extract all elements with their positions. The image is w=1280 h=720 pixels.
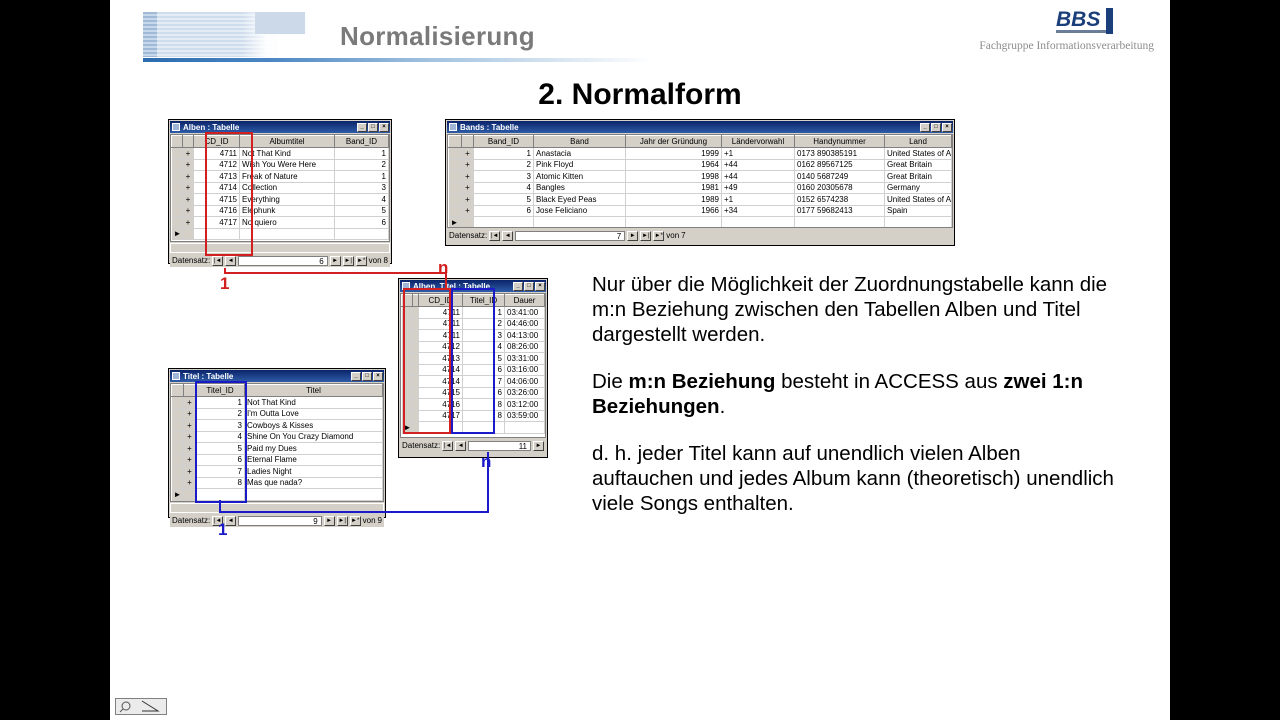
table-row[interactable]: + 4713 Freak of Nature 1 [172, 171, 389, 183]
cell-titel-id[interactable]: 4 [196, 431, 245, 443]
col-header-jahr[interactable]: Jahr der Gründung [626, 136, 722, 148]
row-expander[interactable]: + [462, 159, 474, 171]
nav-prev-button[interactable]: ◄ [225, 256, 236, 266]
nav-last-button[interactable]: ►| [640, 231, 651, 241]
cell-vorwahl[interactable] [722, 217, 795, 229]
table-row[interactable]: + 3 Cowboys & Kisses [172, 420, 383, 432]
cell-titel-id[interactable]: 2 [463, 318, 505, 330]
row-selector[interactable] [402, 410, 413, 422]
cell-albumtitel[interactable]: Everything [240, 194, 335, 206]
table-row[interactable]: + 4 Shine On You Crazy Diamond [172, 431, 383, 443]
row-selector[interactable] [402, 330, 413, 342]
cell-cd-id[interactable]: 4712 [419, 341, 463, 353]
cell-cd-id[interactable]: 4715 [419, 387, 463, 399]
table-row[interactable]: 4713 5 03:31:00 [402, 353, 545, 365]
cell-band-id[interactable]: 2 [474, 159, 534, 171]
cell-titel-id[interactable]: 1 [463, 307, 505, 319]
row-expander[interactable]: + [183, 194, 194, 206]
cell-cd-id[interactable]: 4715 [194, 194, 240, 206]
row-selector[interactable] [402, 399, 413, 411]
cell-cd-id[interactable]: 4712 [194, 159, 240, 171]
header-title: Normalisierung [340, 21, 535, 52]
row-expander[interactable]: + [462, 194, 474, 206]
nav-last-button[interactable]: ►| [343, 256, 354, 266]
row-selector[interactable] [172, 148, 183, 160]
row-expander[interactable]: + [183, 205, 194, 217]
cell-cd-id[interactable]: 4711 [419, 307, 463, 319]
cell-titel-id[interactable]: 8 [463, 410, 505, 422]
cell-titel[interactable]: Cowboys & Kisses [245, 420, 383, 432]
table-row[interactable]: 4714 6 03:16:00 [402, 364, 545, 376]
table-icon [402, 282, 410, 290]
table-icon [172, 123, 180, 131]
cell-cd-id[interactable]: 4717 [194, 217, 240, 229]
cell-titel[interactable]: Mas que nada? [245, 477, 383, 489]
cell-band[interactable]: Pink Floyd [534, 159, 626, 171]
row-expander[interactable]: + [462, 148, 474, 160]
cell-dauer[interactable] [505, 422, 545, 434]
cell-titel-id[interactable]: 5 [196, 443, 245, 455]
nav-current-record[interactable]: 6 [238, 256, 327, 266]
maximize-button[interactable]: □ [931, 123, 941, 132]
cell-cd-id[interactable]: 4716 [419, 399, 463, 411]
table-row[interactable]: 4714 7 04:06:00 [402, 376, 545, 388]
col-header-dauer[interactable]: Dauer [505, 295, 545, 307]
row-selector[interactable] [172, 477, 184, 489]
paragraph-3: d. h. jeder Titel kann auf unendlich vie… [592, 441, 1122, 516]
nav-current-record[interactable]: 7 [515, 231, 625, 241]
row-expander[interactable]: + [184, 466, 196, 478]
table-row[interactable]: + 6 Eternal Flame [172, 454, 383, 466]
maximize-button[interactable]: □ [362, 372, 372, 381]
minimize-button[interactable]: _ [513, 282, 523, 291]
row-expander [462, 217, 474, 229]
cell-land[interactable] [885, 217, 952, 229]
cell-titel[interactable]: Ladies Night [245, 466, 383, 478]
record-navigator-titel[interactable]: Datensatz: |◄ ◄ 9 ► ►| ►* von 9 [170, 514, 384, 527]
cell-titel-id[interactable]: 2 [196, 408, 245, 420]
col-header-band-id[interactable]: Band_ID [335, 136, 389, 148]
cell-cd-id[interactable]: 4716 [194, 205, 240, 217]
minimize-button[interactable]: _ [351, 372, 361, 381]
row-selector[interactable] [172, 397, 184, 409]
col-header-titel[interactable]: Titel [245, 385, 383, 397]
row-selector[interactable]: ► [402, 422, 413, 434]
titlebar-bands[interactable]: Bands : Tabelle _ □ × [447, 121, 953, 133]
cell-titel-id[interactable]: 6 [463, 364, 505, 376]
cell-cd-id[interactable] [419, 422, 463, 434]
table-row[interactable]: + 4716 Elephunk 5 [172, 205, 389, 217]
row-expander[interactable]: + [184, 420, 196, 432]
cell-band[interactable]: Black Eyed Peas [534, 194, 626, 206]
cell-handynummer[interactable]: 0140 5687249 [795, 171, 885, 183]
col-header-band-id[interactable]: Band_ID [474, 136, 534, 148]
titlebar-alben[interactable]: Alben : Tabelle _ □ × [170, 121, 390, 133]
row-selector[interactable] [172, 182, 183, 194]
nav-prev-button[interactable]: ◄ [502, 231, 513, 241]
table-row[interactable]: 4717 8 03:59:00 [402, 410, 545, 422]
cell-titel[interactable]: Not That Kind [245, 397, 383, 409]
cell-cd-id[interactable]: 4713 [419, 353, 463, 365]
table-row[interactable]: + 4717 No quiero 6 [172, 217, 389, 229]
cardinality-titel-one: 1 [218, 520, 227, 540]
table-row[interactable]: + 5 Black Eyed Peas 1989 +1 0152 6574238… [449, 194, 952, 206]
table-row-new[interactable]: ► [172, 228, 389, 240]
row-expander[interactable]: + [462, 182, 474, 194]
record-navigator-bands[interactable]: Datensatz: |◄ ◄ 7 ► ►| ►* von 7 [447, 229, 953, 242]
cell-band-id[interactable]: 3 [335, 182, 389, 194]
nav-of-label: von [363, 516, 376, 525]
cell-jahr[interactable]: 1964 [626, 159, 722, 171]
window-titel[interactable]: Titel : Tabelle _ □ × Titel_ID Titel + [168, 368, 386, 518]
cell-titel[interactable]: I'm Outta Love [245, 408, 383, 420]
horizontal-scrollbar[interactable] [170, 243, 390, 253]
row-selector[interactable] [172, 443, 184, 455]
cell-titel-id[interactable]: 7 [463, 376, 505, 388]
cell-albumtitel[interactable]: Not That Kind [240, 148, 335, 160]
row-expander[interactable]: + [183, 159, 194, 171]
col-header-cd-id[interactable]: CD_ID [419, 295, 463, 307]
nav-of-label: von [369, 256, 382, 265]
cell-albumtitel[interactable]: Wish You Were Here [240, 159, 335, 171]
cell-titel[interactable]: Paid my Dues [245, 443, 383, 455]
col-select-all[interactable] [449, 136, 462, 148]
row-selector[interactable] [449, 159, 462, 171]
table-row[interactable]: 4712 4 08:26:00 [402, 341, 545, 353]
cell-titel-id[interactable]: 6 [463, 387, 505, 399]
cell-albumtitel[interactable]: Elephunk [240, 205, 335, 217]
table-row[interactable]: + 2 I'm Outta Love [172, 408, 383, 420]
window-alben[interactable]: Alben : Tabelle _ □ × CD_ID Albumtitel B… [168, 119, 392, 264]
cell-band[interactable]: Jose Feliciano [534, 205, 626, 217]
cell-dauer[interactable]: 04:06:00 [505, 376, 545, 388]
record-navigator-alben[interactable]: Datensatz: |◄ ◄ 6 ► ►| ►* von 8 [170, 254, 390, 267]
cell-titel-id[interactable]: 1 [196, 397, 245, 409]
cell-cd-id[interactable]: 4711 [419, 330, 463, 342]
minimize-button[interactable]: _ [357, 123, 367, 132]
maximize-button[interactable]: □ [368, 123, 378, 132]
row-selector[interactable] [402, 376, 413, 388]
cell-vorwahl[interactable]: +1 [722, 194, 795, 206]
cell-band-id[interactable]: 4 [335, 194, 389, 206]
row-selector[interactable] [172, 159, 183, 171]
col-select-all[interactable] [172, 385, 184, 397]
cell-band[interactable] [534, 217, 626, 229]
col-header-albumtitel[interactable]: Albumtitel [240, 136, 335, 148]
cell-jahr[interactable]: 1981 [626, 182, 722, 194]
window-title-bands: Bands : Tabelle [460, 123, 920, 132]
cell-handynummer[interactable]: 0177 59682413 [795, 205, 885, 217]
nav-next-button[interactable]: ► [627, 231, 638, 241]
cell-cd-id[interactable]: 4717 [419, 410, 463, 422]
cell-dauer[interactable]: 04:46:00 [505, 318, 545, 330]
row-selector[interactable] [402, 341, 413, 353]
row-selector[interactable] [449, 148, 462, 160]
cell-handynummer[interactable] [795, 217, 885, 229]
maximize-button[interactable]: □ [524, 282, 534, 291]
nav-next-button[interactable]: ► [533, 441, 544, 451]
cell-vorwahl[interactable]: +44 [722, 159, 795, 171]
cell-band-id[interactable] [474, 217, 534, 229]
table-row-new[interactable]: ► [449, 217, 952, 229]
row-selector[interactable] [172, 408, 184, 420]
cell-handynummer[interactable]: 0152 6574238 [795, 194, 885, 206]
table-row[interactable]: + 2 Pink Floyd 1964 +44 0162 89567125 Gr… [449, 159, 952, 171]
row-selector[interactable] [172, 194, 183, 206]
cell-land[interactable]: Great Britain [885, 159, 952, 171]
minimize-button[interactable]: _ [920, 123, 930, 132]
row-expander[interactable]: + [184, 454, 196, 466]
cell-dauer[interactable]: 04:13:00 [505, 330, 545, 342]
row-selector[interactable] [172, 454, 184, 466]
cell-titel-id[interactable]: 6 [196, 454, 245, 466]
cell-cd-id[interactable]: 4714 [194, 182, 240, 194]
window-bands[interactable]: Bands : Tabelle _ □ × Band_ID Band Jahr … [445, 119, 955, 246]
row-selector[interactable] [449, 194, 462, 206]
cell-handynummer[interactable]: 0162 89567125 [795, 159, 885, 171]
cell-jahr[interactable]: 1966 [626, 205, 722, 217]
cell-band-id[interactable]: 1 [474, 148, 534, 160]
cell-cd-id[interactable] [194, 228, 240, 240]
nav-label: Datensatz: [449, 231, 487, 240]
cell-jahr[interactable] [626, 217, 722, 229]
datasheet-alben[interactable]: CD_ID Albumtitel Band_ID + 4711 Not That… [170, 134, 390, 242]
col-header-handynummer[interactable]: Handynummer [795, 136, 885, 148]
cell-band-id[interactable]: 5 [474, 194, 534, 206]
row-expander[interactable]: + [183, 217, 194, 229]
cell-band-id[interactable]: 6 [474, 205, 534, 217]
cell-band-id[interactable]: 3 [474, 171, 534, 183]
cell-land[interactable]: Great Britain [885, 171, 952, 183]
cell-cd-id[interactable]: 4711 [419, 318, 463, 330]
table-row[interactable]: 4716 8 03:12:00 [402, 399, 545, 411]
table-row-new[interactable]: ► [402, 422, 545, 434]
table-row[interactable]: + 4714 Collection 3 [172, 182, 389, 194]
cell-titel-id[interactable]: 3 [196, 420, 245, 432]
cell-albumtitel[interactable] [240, 228, 335, 240]
cell-land[interactable]: Germany [885, 182, 952, 194]
cell-titel-id[interactable]: 7 [196, 466, 245, 478]
cell-dauer[interactable]: 03:31:00 [505, 353, 545, 365]
cell-band-id[interactable]: 6 [335, 217, 389, 229]
table-row[interactable]: 4715 6 03:26:00 [402, 387, 545, 399]
row-selector[interactable] [172, 420, 184, 432]
close-button[interactable]: × [535, 282, 545, 291]
nav-current-record[interactable]: 11 [468, 441, 531, 451]
datasheet-bands[interactable]: Band_ID Band Jahr der Gründung Ländervor… [447, 134, 953, 228]
cell-band-id[interactable]: 1 [335, 171, 389, 183]
datasheet-alben-titel[interactable]: CD_ID Titel_ID Dauer 4711 1 03:41:00 471… [400, 293, 546, 438]
row-selector[interactable] [172, 466, 184, 478]
row-selector[interactable]: ► [449, 217, 462, 229]
row-expander[interactable]: + [462, 171, 474, 183]
cell-band-id[interactable]: 4 [474, 182, 534, 194]
table-row[interactable]: + 7 Ladies Night [172, 466, 383, 478]
cell-vorwahl[interactable]: +1 [722, 148, 795, 160]
close-button[interactable]: × [373, 372, 383, 381]
cell-band-id[interactable]: 2 [335, 159, 389, 171]
table-row-new[interactable]: ► [172, 489, 383, 501]
titlebar-titel[interactable]: Titel : Tabelle _ □ × [170, 370, 384, 382]
cell-dauer[interactable]: 08:26:00 [505, 341, 545, 353]
window-alben-titel[interactable]: Alben_Titel : Tabelle _ □ × CD_ID Titel_… [398, 278, 548, 458]
table-row[interactable]: + 4715 Everything 4 [172, 194, 389, 206]
cell-cd-id[interactable]: 4711 [194, 148, 240, 160]
cell-albumtitel[interactable]: Collection [240, 182, 335, 194]
paragraph-1: Nur über die Möglichkeit der Zuordnungst… [592, 272, 1122, 347]
row-selector[interactable] [449, 205, 462, 217]
row-expander[interactable]: + [184, 397, 196, 409]
cell-land[interactable]: United States of America [885, 194, 952, 206]
bbs-logo-icon: BBS [1056, 6, 1118, 40]
table-row[interactable]: + 6 Jose Feliciano 1966 +34 0177 5968241… [449, 205, 952, 217]
table-row[interactable]: 4711 1 03:41:00 [402, 307, 545, 319]
col-header-land[interactable]: Land [885, 136, 952, 148]
col-expand [183, 136, 194, 148]
row-expander[interactable]: + [183, 171, 194, 183]
table-row[interactable]: + 8 Mas que nada? [172, 477, 383, 489]
cell-titel-id[interactable] [463, 422, 505, 434]
cell-vorwahl[interactable]: +49 [722, 182, 795, 194]
row-selector[interactable] [172, 217, 183, 229]
table-alben: CD_ID Albumtitel Band_ID + 4711 Not That… [171, 135, 389, 240]
row-expander[interactable]: + [184, 408, 196, 420]
cell-dauer[interactable]: 03:16:00 [505, 364, 545, 376]
table-row[interactable]: + 3 Atomic Kitten 1998 +44 0140 5687249 … [449, 171, 952, 183]
p2-part2: besteht in ACCESS aus [775, 370, 1003, 393]
row-expander[interactable]: + [462, 205, 474, 217]
nav-next-button[interactable]: ► [324, 516, 335, 526]
cell-albumtitel[interactable]: No quiero [240, 217, 335, 229]
row-selector[interactable] [402, 307, 413, 319]
table-row[interactable]: 4711 2 04:46:00 [402, 318, 545, 330]
cell-titel-id[interactable]: 8 [463, 399, 505, 411]
table-row[interactable]: + 1 Not That Kind [172, 397, 383, 409]
col-header-titel-id[interactable]: Titel_ID [463, 295, 505, 307]
cell-band-id[interactable]: 1 [335, 148, 389, 160]
cell-vorwahl[interactable]: +44 [722, 171, 795, 183]
row-selector[interactable] [402, 364, 413, 376]
cell-cd-id[interactable]: 4713 [194, 171, 240, 183]
cell-cd-id[interactable]: 4714 [419, 376, 463, 388]
nav-new-button[interactable]: ►* [653, 231, 664, 241]
cell-handynummer[interactable]: 0173 890385191 [795, 148, 885, 160]
cell-land[interactable]: United States of America [885, 148, 952, 160]
nav-last-button[interactable]: ►| [337, 516, 348, 526]
col-header-band[interactable]: Band [534, 136, 626, 148]
row-selector[interactable] [402, 318, 413, 330]
cell-titel-id[interactable] [196, 489, 245, 501]
table-row[interactable]: + 1 Anastacia 1999 +1 0173 890385191 Uni… [449, 148, 952, 160]
table-row[interactable]: + 4 Bangles 1981 +49 0160 20305678 Germa… [449, 182, 952, 194]
pointer-pen-icon[interactable] [116, 699, 166, 714]
row-selector[interactable]: ► [172, 489, 184, 501]
slideshow-controls[interactable] [115, 698, 167, 715]
cell-cd-id[interactable]: 4714 [419, 364, 463, 376]
cell-titel-id[interactable]: 5 [463, 353, 505, 365]
nav-prev-button[interactable]: ◄ [455, 441, 466, 451]
cell-jahr[interactable]: 1999 [626, 148, 722, 160]
cell-dauer[interactable]: 03:41:00 [505, 307, 545, 319]
nav-first-button[interactable]: |◄ [212, 256, 223, 266]
cell-dauer[interactable]: 03:26:00 [505, 387, 545, 399]
titlebar-alben-titel[interactable]: Alben_Titel : Tabelle _ □ × [400, 280, 546, 292]
cell-jahr[interactable]: 1998 [626, 171, 722, 183]
cell-titel[interactable]: Eternal Flame [245, 454, 383, 466]
cell-land[interactable]: Spain [885, 205, 952, 217]
row-expander[interactable]: + [184, 477, 196, 489]
row-selector[interactable]: ► [172, 228, 183, 240]
row-selector[interactable] [172, 431, 184, 443]
header-decoration-block [255, 12, 305, 34]
row-selector[interactable] [449, 171, 462, 183]
cell-band-id[interactable]: 5 [335, 205, 389, 217]
nav-first-button[interactable]: |◄ [442, 441, 453, 451]
nav-new-button[interactable]: ►* [356, 256, 367, 266]
table-row[interactable]: + 4712 Wish You Were Here 2 [172, 159, 389, 171]
col-header-vorwahl[interactable]: Ländervorwahl [722, 136, 795, 148]
col-select-all[interactable] [402, 295, 413, 307]
cell-albumtitel[interactable]: Freak of Nature [240, 171, 335, 183]
cell-vorwahl[interactable]: +34 [722, 205, 795, 217]
cell-handynummer[interactable]: 0160 20305678 [795, 182, 885, 194]
row-selector[interactable] [449, 182, 462, 194]
row-expander[interactable]: + [183, 148, 194, 160]
cell-band[interactable]: Atomic Kitten [534, 171, 626, 183]
cell-titel[interactable] [245, 489, 383, 501]
table-row[interactable]: + 5 Paid my Dues [172, 443, 383, 455]
cell-titel-id[interactable]: 4 [463, 341, 505, 353]
cell-titel-id[interactable]: 8 [196, 477, 245, 489]
close-button[interactable]: × [942, 123, 952, 132]
nav-next-button[interactable]: ► [330, 256, 341, 266]
cell-dauer[interactable]: 03:59:00 [505, 410, 545, 422]
p2-part3: . [720, 395, 726, 418]
cardinality-alben-one: 1 [220, 274, 229, 294]
nav-current-record[interactable]: 9 [238, 516, 321, 526]
datasheet-titel[interactable]: Titel_ID Titel + 1 Not That Kind + 2 I'm… [170, 383, 384, 502]
nav-new-button[interactable]: ►* [350, 516, 361, 526]
cell-dauer[interactable]: 03:12:00 [505, 399, 545, 411]
row-expander[interactable]: + [184, 431, 196, 443]
cell-band-id[interactable] [335, 228, 389, 240]
logo-subtitle: Fachgruppe Informationsverarbeitung [979, 40, 1154, 52]
cell-titel[interactable]: Shine On You Crazy Diamond [245, 431, 383, 443]
row-expander[interactable]: + [183, 182, 194, 194]
col-select-all[interactable] [172, 136, 183, 148]
record-navigator-alben-titel[interactable]: Datensatz: |◄ ◄ 11 ► [400, 439, 546, 452]
row-expander[interactable]: + [184, 443, 196, 455]
row-selector[interactable] [402, 387, 413, 399]
cell-titel-id[interactable]: 3 [463, 330, 505, 342]
col-header-titel-id[interactable]: Titel_ID [196, 385, 245, 397]
nav-first-button[interactable]: |◄ [489, 231, 500, 241]
close-button[interactable]: × [379, 123, 389, 132]
table-icon [449, 123, 457, 131]
cell-band[interactable]: Bangles [534, 182, 626, 194]
col-header-cd-id[interactable]: CD_ID [194, 136, 240, 148]
row-selector[interactable] [402, 353, 413, 365]
horizontal-scrollbar[interactable] [170, 503, 384, 513]
table-bands: Band_ID Band Jahr der Gründung Ländervor… [448, 135, 952, 228]
row-selector[interactable] [172, 205, 183, 217]
cell-band[interactable]: Anastacia [534, 148, 626, 160]
row-selector[interactable] [172, 171, 183, 183]
cell-jahr[interactable]: 1989 [626, 194, 722, 206]
table-row[interactable]: + 4711 Not That Kind 1 [172, 148, 389, 160]
table-row[interactable]: 4711 3 04:13:00 [402, 330, 545, 342]
nav-label: Datensatz: [172, 516, 210, 525]
